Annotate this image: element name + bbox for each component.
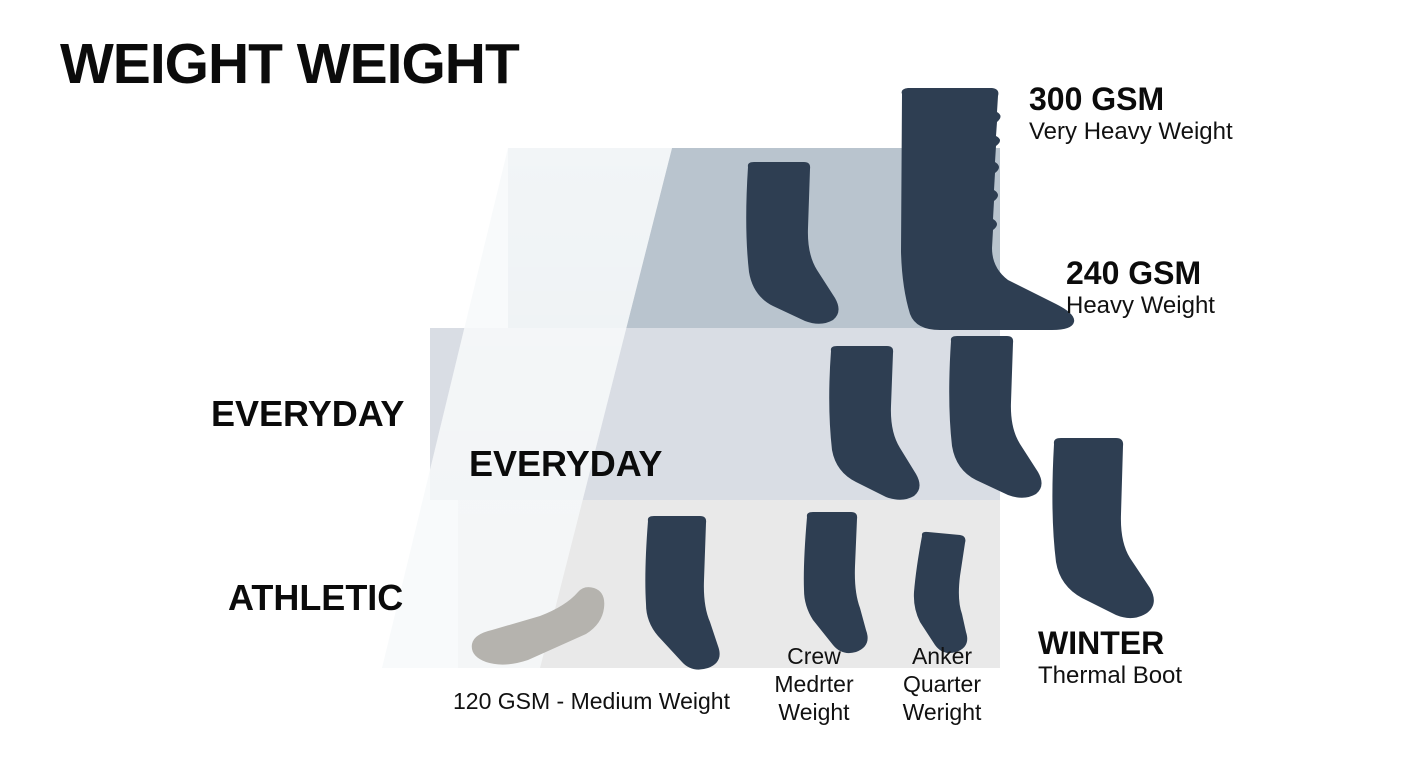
weight-gsm-240: 240 GSM <box>1066 256 1215 292</box>
weight-label-240gsm: 240 GSM Heavy Weight <box>1066 256 1215 320</box>
infographic-canvas: WEIGHT WEIGHT EVERYDAY EVERYDAY ATHLETIC… <box>0 0 1408 768</box>
category-label-athletic: ATHLETIC <box>228 580 403 616</box>
weight-gsm-300: 300 GSM <box>1029 82 1233 118</box>
sock-crew-120gsm <box>636 512 736 674</box>
weight-desc-winter: Thermal Boot <box>1038 662 1182 690</box>
caption-crew-line1: Crew <box>744 642 884 670</box>
sock-no-show-athletic <box>466 580 612 670</box>
sock-crew-everyday-right <box>938 332 1048 502</box>
category-label-everyday-upper: EVERYDAY <box>211 396 404 432</box>
caption-crew: Crew Medrter Weight <box>744 642 884 726</box>
page-title: WEIGHT WEIGHT <box>60 36 519 93</box>
caption-anker-line3: Weright <box>872 698 1012 726</box>
weight-desc-300: Very Heavy Weight <box>1029 118 1233 146</box>
weight-label-300gsm: 300 GSM Very Heavy Weight <box>1029 82 1233 146</box>
sock-crew-everyday-left <box>818 342 928 502</box>
sock-ankle-anker <box>908 528 994 658</box>
caption-120gsm-medium: 120 GSM - Medium Weight <box>453 687 730 715</box>
weight-desc-240: Heavy Weight <box>1066 292 1215 320</box>
caption-anker: Anker Quarter Weright <box>872 642 1012 726</box>
sock-thermal-boot-winter <box>1040 434 1170 624</box>
caption-crew-line2: Medrter <box>744 670 884 698</box>
category-label-everyday-lower: EVERYDAY <box>469 446 662 482</box>
weight-gsm-winter: WINTER <box>1038 626 1182 662</box>
caption-anker-line1: Anker <box>872 642 1012 670</box>
caption-anker-line2: Quarter <box>872 670 1012 698</box>
sock-quarter-crew <box>796 508 886 658</box>
sock-crew-240gsm <box>735 158 845 328</box>
weight-label-winter: WINTER Thermal Boot <box>1038 626 1182 690</box>
caption-crew-line3: Weight <box>744 698 884 726</box>
